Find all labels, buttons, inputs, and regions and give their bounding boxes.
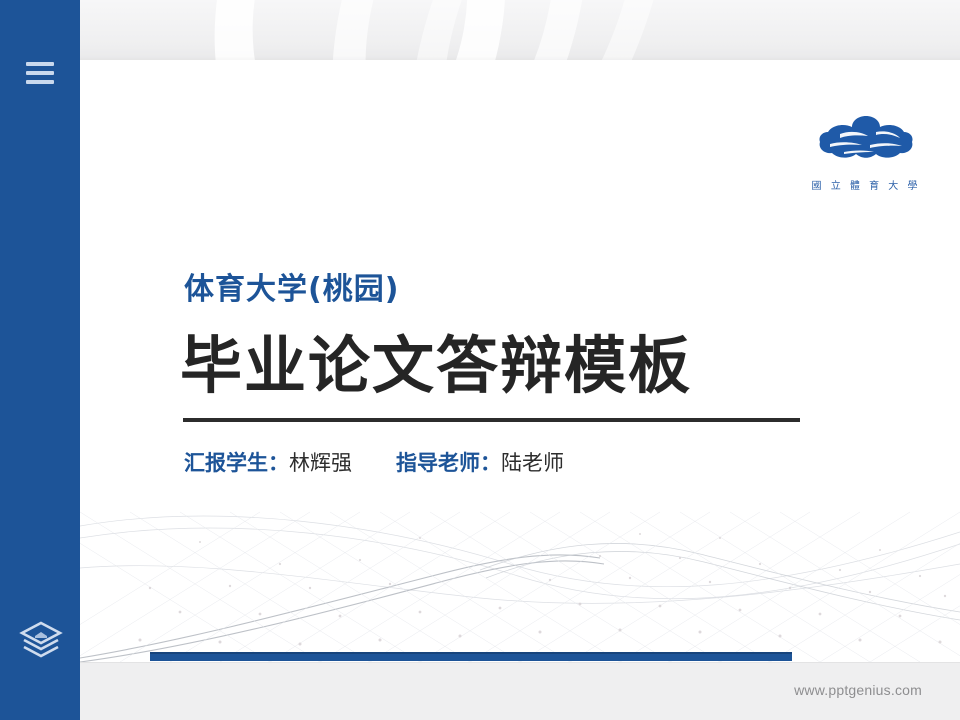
plum-blossom-icon: [810, 112, 922, 170]
site-url: www.pptgenius.com: [794, 682, 922, 698]
university-logo: 國 立 體 育 大 學: [810, 112, 922, 192]
page-footer: www.pptgenius.com: [80, 662, 960, 720]
presentation-slide: 國 立 體 育 大 學 体育大学(桃园) 毕业论文答辩模板 汇报学生：林辉强指导…: [80, 60, 960, 662]
presenter-label: 汇报学生：: [184, 451, 289, 475]
slide-title: 毕业论文答辩模板: [180, 315, 692, 405]
advisor-name: 陆老师: [501, 451, 564, 475]
hamburger-line: [26, 80, 54, 84]
slide-subtitle: 体育大学(桃园): [184, 264, 399, 308]
decorative-swoosh-band: [80, 0, 960, 62]
hamburger-line: [26, 71, 54, 75]
advisor-label: 指导老师：: [396, 451, 501, 475]
hamburger-icon[interactable]: [26, 62, 54, 84]
footer-divider: [80, 662, 960, 663]
presenter-name: 林辉强: [289, 451, 352, 475]
presenter-line: 汇报学生：林辉强指导老师：陆老师: [184, 447, 564, 477]
left-sidebar: [0, 0, 80, 720]
slide-canvas: 國 立 體 育 大 學 体育大学(桃园) 毕业论文答辩模板 汇报学生：林辉强指导…: [80, 0, 960, 720]
title-divider: [183, 418, 800, 422]
hamburger-line: [26, 62, 54, 66]
wireframe-mesh-graphic: [80, 472, 960, 662]
university-name: 國 立 體 育 大 學: [810, 177, 922, 192]
bottom-accent-bar: [150, 652, 792, 661]
layers-stack-icon[interactable]: [18, 620, 64, 662]
